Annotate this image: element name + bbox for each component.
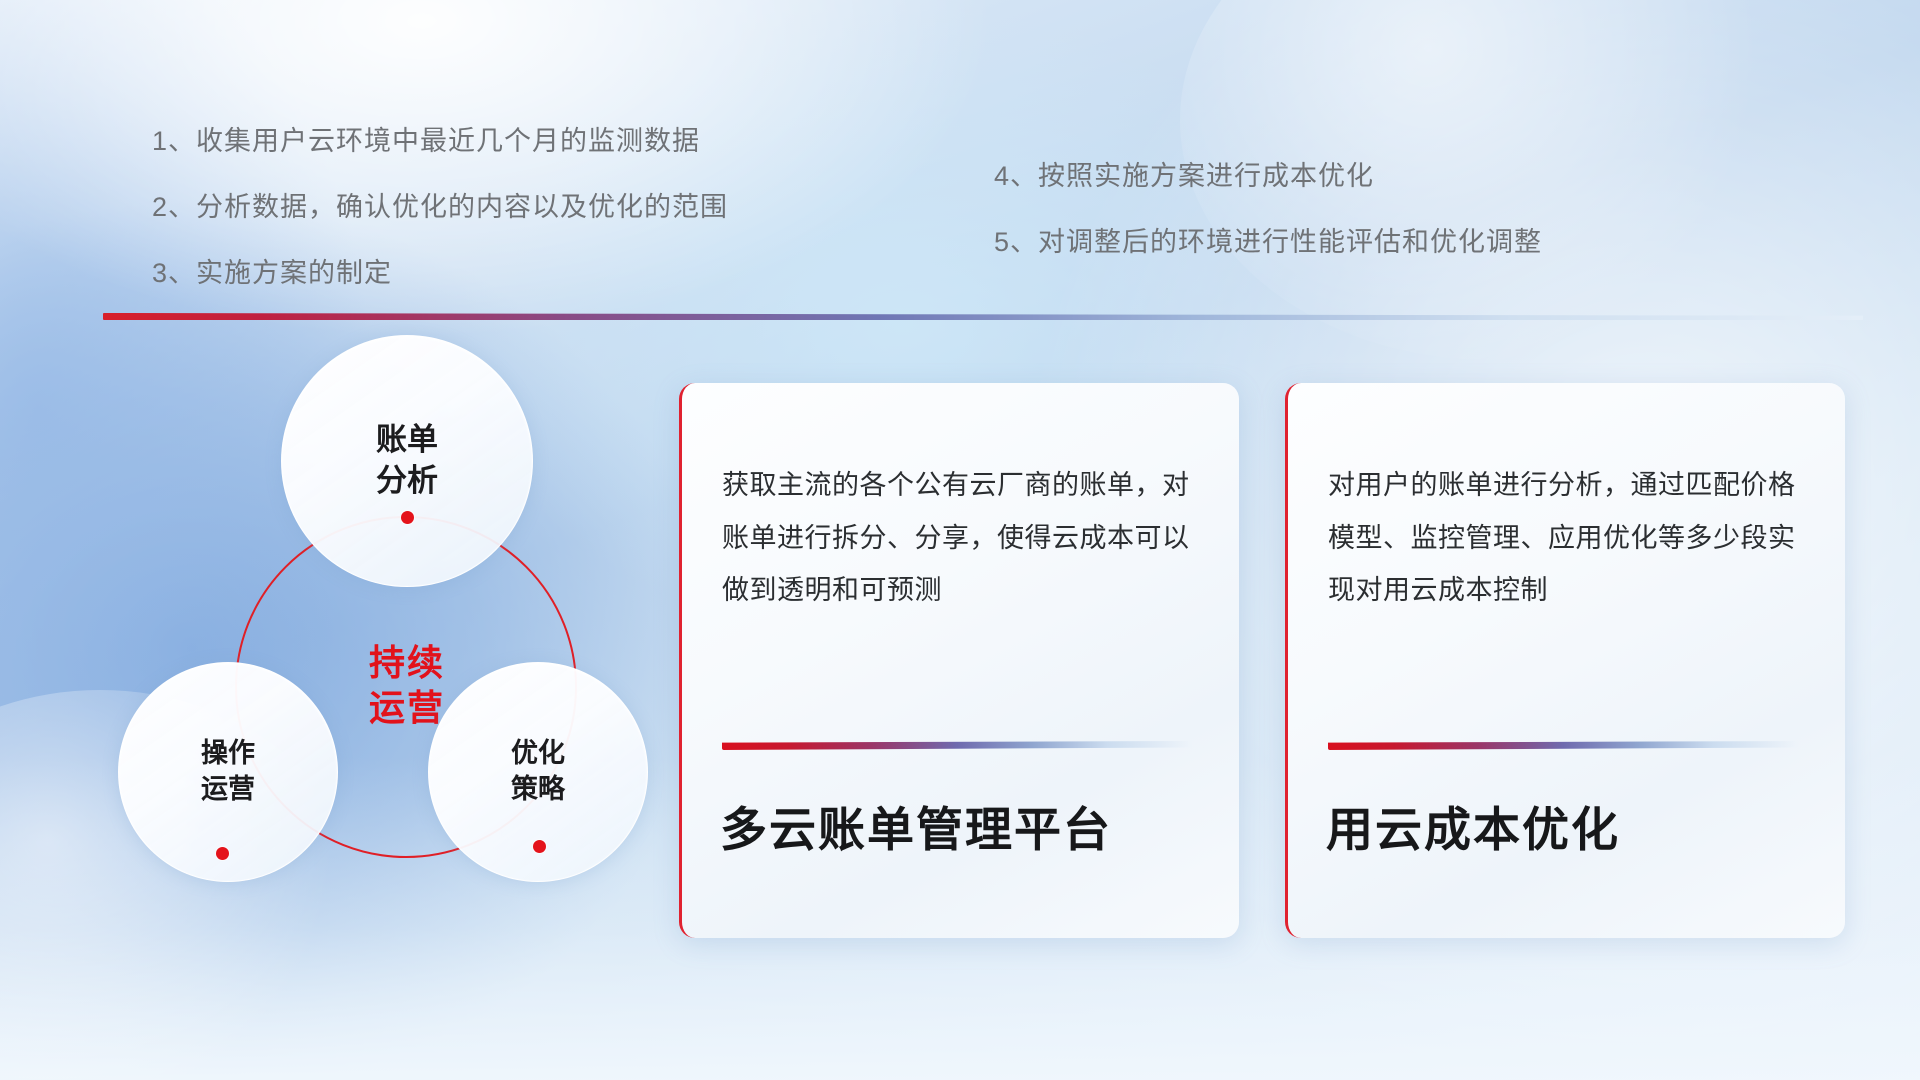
bubble-optimization-strategy-line2: 策略 bbox=[511, 772, 565, 808]
bubble-optimization-strategy-line1: 优化 bbox=[511, 736, 565, 772]
card-multicloud-billing-body: 获取主流的各个公有云厂商的账单，对账单进行拆分、分享，使得云成本可以做到透明和可… bbox=[722, 459, 1207, 617]
card-multicloud-billing[interactable]: 获取主流的各个公有云厂商的账单，对账单进行拆分、分享，使得云成本可以做到透明和可… bbox=[679, 383, 1239, 938]
node-dot-bottom-right-icon bbox=[533, 840, 546, 853]
step-item-5: 5、对调整后的环境进行性能评估和优化调整 bbox=[994, 229, 1542, 256]
bubble-operations-line1: 操作 bbox=[201, 736, 255, 772]
step-item-2: 2、分析数据，确认优化的内容以及优化的范围 bbox=[152, 194, 728, 221]
circles-diagram: 持续 运营 账单 分析 操作 运营 优化 策略 bbox=[96, 350, 656, 950]
bubble-operations[interactable]: 操作 运营 bbox=[118, 662, 338, 882]
card-multicloud-billing-rule bbox=[722, 741, 1192, 750]
step-item-1: 1、收集用户云环境中最近几个月的监测数据 bbox=[152, 128, 728, 155]
card-cloud-cost-optimization-rule bbox=[1328, 741, 1798, 750]
card-cloud-cost-optimization-title: 用云成本优化 bbox=[1326, 791, 1620, 860]
step-item-3: 3、实施方案的制定 bbox=[152, 260, 728, 287]
node-dot-bottom-left-icon bbox=[216, 847, 229, 860]
steps-list-left: 1、收集用户云环境中最近几个月的监测数据 2、分析数据，确认优化的内容以及优化的… bbox=[152, 128, 728, 287]
bubble-billing-analysis[interactable]: 账单 分析 bbox=[281, 335, 533, 587]
steps-list-right: 4、按照实施方案进行成本优化 5、对调整后的环境进行性能评估和优化调整 bbox=[994, 163, 1542, 256]
card-multicloud-billing-title: 多云账单管理平台 bbox=[720, 791, 1112, 860]
bubble-billing-analysis-line2: 分析 bbox=[376, 461, 438, 502]
card-cloud-cost-optimization-body: 对用户的账单进行分析，通过匹配价格模型、监控管理、应用优化等多少段实现对用云成本… bbox=[1328, 459, 1813, 617]
node-dot-top-icon bbox=[401, 511, 414, 524]
bubble-billing-analysis-line1: 账单 bbox=[376, 420, 438, 461]
step-item-4: 4、按照实施方案进行成本优化 bbox=[994, 163, 1542, 190]
card-cloud-cost-optimization[interactable]: 对用户的账单进行分析，通过匹配价格模型、监控管理、应用优化等多少段实现对用云成本… bbox=[1285, 383, 1845, 938]
bubble-operations-line2: 运营 bbox=[201, 772, 255, 808]
